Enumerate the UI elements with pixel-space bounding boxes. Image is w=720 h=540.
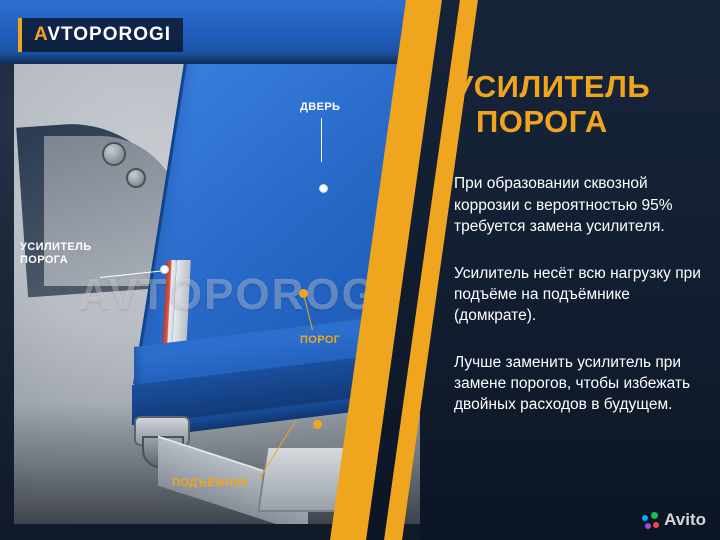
brand-logo-rest: VTOPOROGI [47, 24, 171, 45]
leader-dot-sill [299, 289, 308, 298]
label-door: ДВЕРЬ [300, 101, 340, 114]
panel-title-line2: ПОРОГА [476, 105, 712, 140]
info-panel-content: УСИЛИТЕЛЬ ПОРОГА При образовании сквозно… [454, 0, 712, 540]
label-jack: ПОДЪЁМНИК [172, 477, 248, 490]
brand-logo: AVTOPOROGI [18, 18, 183, 52]
info-panel: УСИЛИТЕЛЬ ПОРОГА При образовании сквозно… [420, 0, 720, 540]
leader-dot-jack [313, 420, 322, 429]
avito-logo-icon [642, 512, 659, 529]
label-reinforcement: УСИЛИТЕЛЬ ПОРОГА [20, 241, 92, 267]
leader-line-door [321, 118, 322, 162]
brand-logo-initial: A [34, 24, 47, 45]
leader-dot-door [319, 184, 328, 193]
leader-dot-reinforcement [160, 265, 169, 274]
avito-label: Avito [664, 510, 706, 530]
avito-watermark: Avito [642, 510, 706, 530]
panel-paragraph-1: При образовании сквозной коррозии с веро… [454, 173, 712, 236]
panel-paragraph-2: Усилитель несёт всю нагрузку при подъёме… [454, 263, 712, 326]
bolt-icon [126, 168, 146, 188]
label-sill: ПОРОГ [300, 334, 340, 347]
panel-title-line1: УСИЛИТЕЛЬ [454, 69, 650, 104]
advertisement-banner: AVTOPOROGI ДВЕРЬ УСИЛИТЕЛЬ ПОРОГА ПОРОГ … [0, 0, 720, 540]
panel-title: УСИЛИТЕЛЬ ПОРОГА [454, 70, 712, 139]
brand-logo-text: AVTOPOROGI [34, 24, 171, 46]
panel-paragraph-3: Лучше заменить усилитель при замене поро… [454, 352, 712, 415]
bolt-icon [102, 142, 126, 166]
